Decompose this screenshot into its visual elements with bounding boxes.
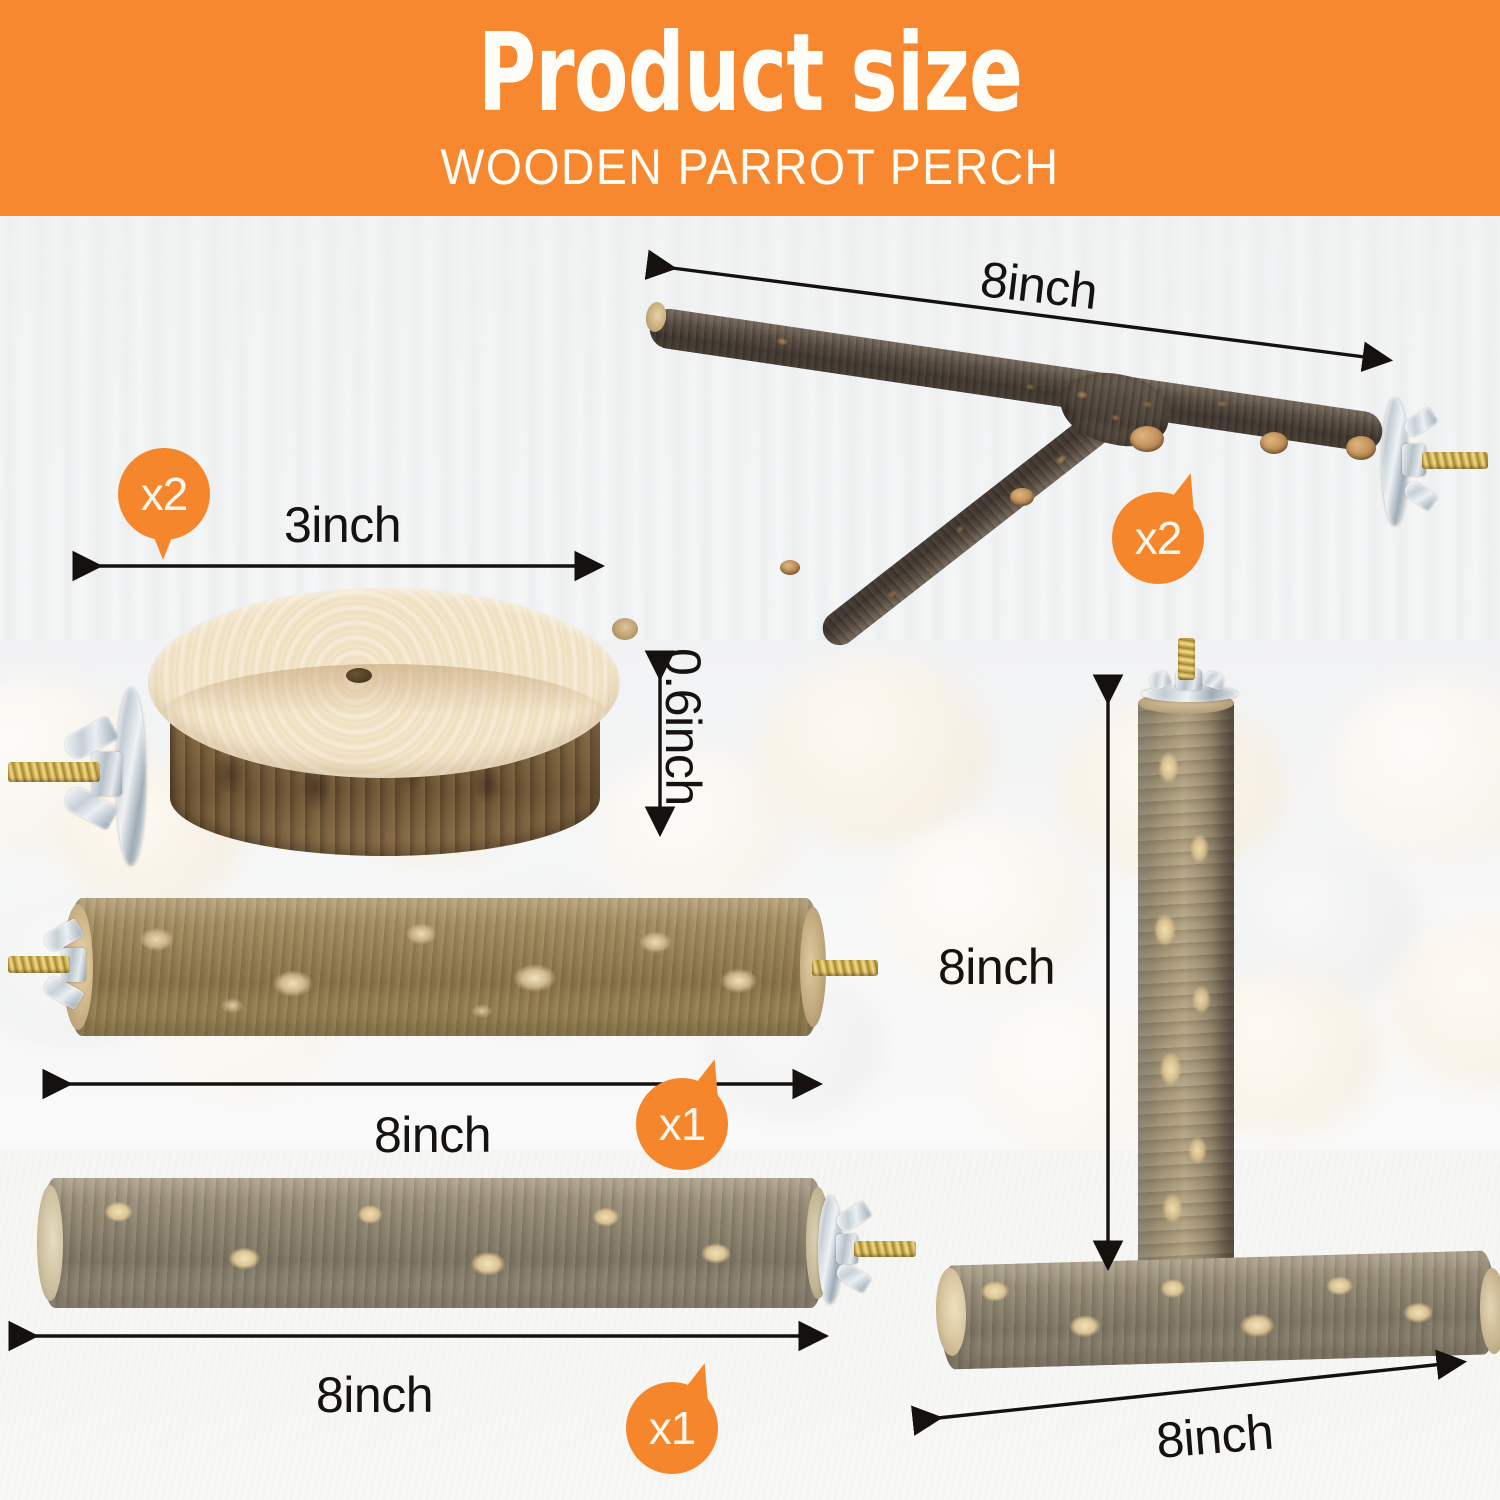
- threaded-bolt-icon: [854, 1241, 916, 1257]
- header-banner: Product size WOODEN PARROT PERCH: [0, 0, 1500, 216]
- product-t-stand-perch: [1080, 680, 1500, 1400]
- disc-rim-shading: [154, 664, 614, 784]
- disc-pith-center: [346, 668, 372, 683]
- t-horizontal-base: [939, 1250, 1498, 1369]
- dim-label-bottom-log-length: 8inch: [316, 1366, 433, 1424]
- wing-nut-wing: [1402, 479, 1439, 512]
- threaded-bolt-icon: [1178, 638, 1195, 680]
- branch-mount-hardware: [1360, 398, 1500, 528]
- branch-fork-arm: [816, 404, 1121, 652]
- mid-log-hardware-left: [8, 920, 128, 1020]
- qty-badge-mid-log: x1: [636, 1078, 728, 1170]
- dim-label-disc-diameter: 3inch: [284, 496, 401, 554]
- qty-badge-bottom-log: x1: [626, 1382, 718, 1474]
- wing-nut-wing: [834, 1260, 872, 1293]
- page-title: Product size: [135, 10, 1365, 137]
- qty-badge-disc: x2: [118, 448, 210, 540]
- disc-mount-hardware: [8, 688, 188, 868]
- t-perch-hardware: [1142, 644, 1262, 714]
- branch-knot: [1260, 432, 1288, 454]
- product-size-infographic: 8inch 3inch 0.6inch 8inch 8inch 8inch 8i…: [0, 0, 1500, 1500]
- dim-label-t-post-height: 8inch: [938, 938, 1055, 996]
- log-bark-surface: [40, 1178, 826, 1308]
- branch-knot: [780, 560, 800, 575]
- dim-label-t-base-length: 8inch: [1154, 1403, 1275, 1470]
- product-y-branch-perch: [600, 250, 1430, 670]
- product-wooden-disc-platform: [148, 588, 620, 888]
- t-vertical-post: [1138, 698, 1234, 1278]
- branch-knot: [1130, 426, 1164, 452]
- qty-badge-branch: x2: [1112, 492, 1204, 584]
- product-bark-log-perch: [40, 1178, 826, 1308]
- dim-label-mid-log-length: 8inch: [374, 1106, 491, 1164]
- log-cut-end-left: [37, 1185, 63, 1301]
- branch-knot: [1010, 488, 1034, 506]
- threaded-bolt-icon: [1422, 452, 1488, 469]
- threaded-bolt-icon: [8, 956, 70, 973]
- wing-nut-wing: [1402, 407, 1439, 440]
- log-bark-surface: [66, 898, 822, 1036]
- threaded-bolt-icon: [8, 762, 100, 782]
- page-subtitle: WOODEN PARROT PERCH: [53, 140, 1448, 195]
- dim-label-disc-thickness: 0.6inch: [654, 648, 712, 806]
- threaded-bolt-icon: [812, 960, 878, 976]
- badge-qty-label: x1: [636, 1078, 728, 1170]
- wing-nut-wing: [834, 1200, 872, 1233]
- mid-log-hardware-right: [812, 952, 902, 992]
- product-knobby-log-perch: [66, 898, 822, 1036]
- bottom-log-hardware: [812, 1196, 942, 1306]
- badge-qty-label: x2: [118, 448, 210, 540]
- badge-qty-label: x2: [1112, 492, 1204, 584]
- product-photos-layer: [0, 0, 1500, 1500]
- badge-qty-label: x1: [626, 1382, 718, 1474]
